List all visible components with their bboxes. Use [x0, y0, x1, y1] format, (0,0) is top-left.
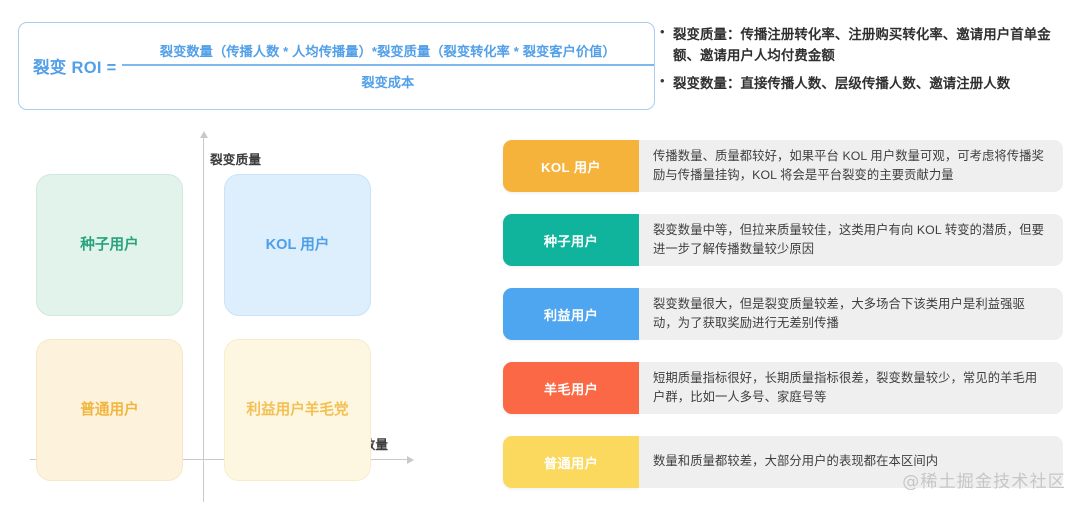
bullet-item: • 裂变数量：直接传播人数、层级传播人数、邀请注册人数 — [660, 73, 1062, 94]
quadrant-box-benefit-line2: 羊毛党 — [305, 399, 349, 421]
bullet-item-text: 裂变质量：传播注册转化率、注册购买转化率、邀请用户首单金额、邀请用户人均付费金额 — [673, 24, 1062, 66]
quadrant-box-kol-user: KOL 用户 — [224, 174, 371, 316]
card-tag-seed-user: 种子用户 — [503, 214, 639, 266]
card-description-panel: 传播数量、质量都较好，如果平台 KOL 用户数量可观，可考虑将传播奖励与传播量挂… — [639, 140, 1063, 192]
formula-left-hand-side: 裂变 ROI = — [33, 54, 117, 78]
card-description-text: 数量和质量都较差，大部分用户的表现都在本区间内 — [653, 452, 938, 472]
y-axis-arrow-icon — [200, 131, 208, 138]
quadrant-box-seed-user: 种子用户 — [36, 174, 183, 316]
bullet-item-text: 裂变数量：直接传播人数、层级传播人数、邀请注册人数 — [673, 73, 1062, 94]
bullet-dot-icon: • — [660, 24, 673, 32]
y-axis-line — [203, 137, 204, 502]
formula-fraction: 裂变数量（传播人数 * 人均传播量）*裂变质量（裂变转化率 * 裂变客户价值） … — [122, 41, 654, 90]
card-tag-wool-user: 羊毛用户 — [503, 362, 639, 414]
user-type-card: 种子用户 裂变数量中等，但拉来质量较佳，这类用户有向 KOL 转变的潜质，但要进… — [503, 214, 1063, 266]
y-axis-label: 裂变质量 — [210, 149, 261, 168]
quadrant-box-benefit-user: 利益用户 羊毛党 — [224, 339, 371, 481]
formula-band: 裂变 ROI = 裂变数量（传播人数 * 人均传播量）*裂变质量（裂变转化率 *… — [0, 0, 1080, 122]
metric-bullet-list: • 裂变质量：传播注册转化率、注册购买转化率、邀请用户首单金额、邀请用户人均付费… — [660, 24, 1062, 101]
quadrant-box-benefit-line1: 利益用户 — [246, 399, 304, 421]
card-tag-benefit-user: 利益用户 — [503, 288, 639, 340]
formula-inner: 裂变 ROI = 裂变数量（传播人数 * 人均传播量）*裂变质量（裂变转化率 *… — [19, 23, 654, 109]
user-type-card: 利益用户 裂变数量很大，但是裂变质量较差，大多场合下该类用户是利益强驱动，为了获… — [503, 288, 1063, 340]
watermark: @稀土掘金技术社区 — [902, 467, 1066, 492]
formula-numerator: 裂变数量（传播人数 * 人均传播量）*裂变质量（裂变转化率 * 裂变客户价值） — [122, 41, 654, 64]
x-axis-arrow-icon — [407, 456, 414, 464]
card-description-text: 裂变数量中等，但拉来质量较佳，这类用户有向 KOL 转变的潜质，但要进一步了解传… — [653, 221, 1047, 260]
bullet-item: • 裂变质量：传播注册转化率、注册购买转化率、邀请用户首单金额、邀请用户人均付费… — [660, 24, 1062, 66]
card-description-text: 短期质量指标很好，长期质量指标很差，裂变数量较少，常见的羊毛用户群，比如一人多号… — [653, 369, 1047, 408]
formula-denominator: 裂变成本 — [122, 66, 654, 91]
card-tag-normal-user: 普通用户 — [503, 436, 639, 488]
bullet-dot-icon: • — [660, 73, 673, 81]
fission-roi-formula-box: 裂变 ROI = 裂变数量（传播人数 * 人均传播量）*裂变质量（裂变转化率 *… — [18, 22, 655, 110]
card-description-panel: 裂变数量很大，但是裂变质量较差，大多场合下该类用户是利益强驱动，为了获取奖励进行… — [639, 288, 1063, 340]
card-description-panel: 短期质量指标很好，长期质量指标很差，裂变数量较少，常见的羊毛用户群，比如一人多号… — [639, 362, 1063, 414]
quadrant-box-normal-user: 普通用户 — [36, 339, 183, 481]
card-tag-kol-user: KOL 用户 — [503, 140, 639, 192]
user-segmentation-quadrant-chart: 裂变质量 裂变数量 种子用户 KOL 用户 普通用户 利益用户 羊毛党 — [14, 131, 424, 502]
card-description-text: 裂变数量很大，但是裂变质量较差，大多场合下该类用户是利益强驱动，为了获取奖励进行… — [653, 295, 1047, 334]
user-type-card: 羊毛用户 短期质量指标很好，长期质量指标很差，裂变数量较少，常见的羊毛用户群，比… — [503, 362, 1063, 414]
card-description-text: 传播数量、质量都较好，如果平台 KOL 用户数量可观，可考虑将传播奖励与传播量挂… — [653, 147, 1047, 186]
card-description-panel: 裂变数量中等，但拉来质量较佳，这类用户有向 KOL 转变的潜质，但要进一步了解传… — [639, 214, 1063, 266]
user-type-card-list: KOL 用户 传播数量、质量都较好，如果平台 KOL 用户数量可观，可考虑将传播… — [503, 140, 1063, 510]
user-type-card: KOL 用户 传播数量、质量都较好，如果平台 KOL 用户数量可观，可考虑将传播… — [503, 140, 1063, 192]
